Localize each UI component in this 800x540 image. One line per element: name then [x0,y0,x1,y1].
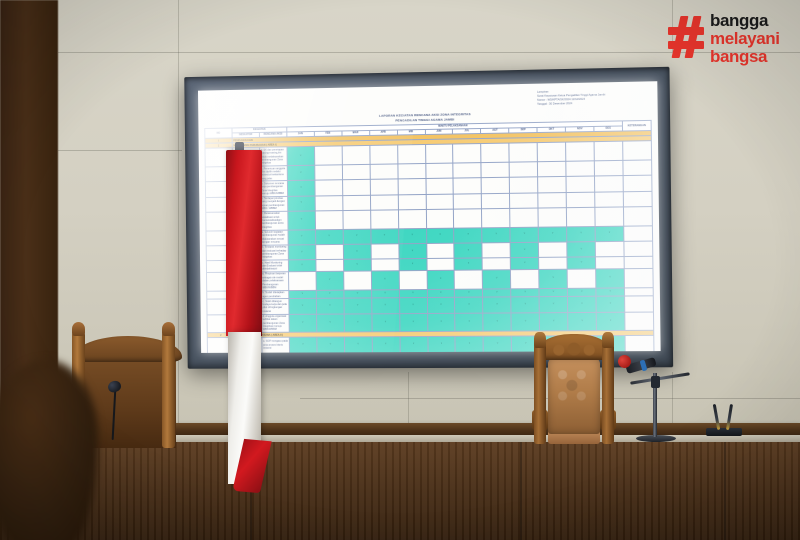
slide-header-block: Lampiran Surat Keputusan Ketua Pengadila… [537,89,643,107]
cell-month-empty [370,164,398,180]
cell-month-marked: v [455,313,483,332]
cell-month-empty [567,269,596,288]
mic-clip [651,376,660,388]
chair-finial-right [602,332,614,348]
cell-month-empty [399,271,427,290]
cell-month-empty [594,161,623,177]
cell-month-empty [397,145,425,164]
bench-panel-seam [724,442,726,540]
cell-month-empty [482,193,510,209]
cell-month-empty [369,145,397,164]
cell-month-marked: v [511,297,539,313]
cell-month-empty [426,258,454,270]
cell-month-marked: v [371,289,399,298]
cell-month-empty [426,209,454,228]
indonesian-flag [222,150,268,490]
cell-month-marked: v [455,297,483,313]
cell-month-marked: v [398,243,426,259]
cell-month-marked: v [511,258,539,270]
bangga-melayani-bangsa-logo: bangga melayani bangsa [668,8,790,66]
cell-month-marked: v [289,299,317,314]
cell-month-empty [342,146,370,165]
cell-month-empty [595,207,624,226]
cell-month-empty [425,144,453,163]
cell-month-marked: v [455,337,483,352]
cell-month-marked: v [399,289,427,298]
chair-tufted-backrest [548,358,600,434]
logo-line-1: bangga [710,12,780,30]
cell-month-marked: v [287,165,315,181]
mic-stem [112,388,117,440]
cell-month-marked: v [567,242,596,258]
hash-icon [668,16,704,58]
desk-pen-set [706,400,748,436]
cell-month-marked: v [483,297,511,313]
cell-month-marked: v [289,290,317,299]
cell-keterangan [624,269,653,288]
pen-left [713,404,720,430]
cell-month-marked: v [483,270,511,289]
cell-month-empty [539,242,568,258]
cell-month-empty [510,208,538,227]
cell-month-marked: v [538,226,567,242]
cell-month-marked: v [316,298,344,313]
cell-month-empty [370,210,398,229]
cell-month-marked: v [399,259,427,271]
cell-month-empty [454,193,482,209]
courtroom-scene: Lampiran Surat Keputusan Ketua Pengadila… [0,0,800,540]
cell-month-empty [453,163,481,179]
cell-month-empty [511,270,539,289]
cell-month-empty [316,259,344,271]
cell-month-marked: v [316,314,344,333]
cell-month-empty [370,195,398,211]
cell-month-marked: v [288,211,316,230]
cell-month-marked: v [287,181,315,197]
cell-month-empty [426,243,454,259]
cell-month-empty [566,161,595,177]
cell-month-empty [343,271,371,290]
mic-head [107,379,123,393]
cell-month-marked: v [539,297,568,313]
cell-month-empty [315,244,343,259]
cell-month-empty [566,192,595,208]
cell-month-empty [314,146,342,165]
wall-seam [58,150,182,151]
cell-keterangan [624,241,653,257]
cell-month-marked: v [539,269,568,288]
cell-month-marked: v [539,288,567,297]
cell-keterangan [623,141,652,160]
cell-month-empty [342,180,370,196]
cell-month-empty [398,179,426,195]
cell-month-marked: v [427,298,455,313]
cell-month-marked: v [372,313,400,332]
cell-keterangan [623,176,652,192]
cell-keterangan [625,296,654,312]
chair-crown-carving [536,334,612,360]
cell-keterangan [624,256,653,268]
cell-month-empty [566,176,595,192]
cell-month-empty [315,180,343,196]
cell-month-empty [425,163,453,179]
cell-month-marked: v [427,313,455,332]
cell-month-empty [482,242,510,258]
cell-month-marked: v [288,245,316,260]
cell-month-empty [567,207,596,226]
cell-month-marked: v [596,288,625,297]
cell-month-marked: v [596,269,625,288]
chair-finial-left [534,332,546,348]
cell-month-empty [509,162,537,178]
cell-month-empty [510,177,538,193]
pen-holder-base [706,428,742,436]
cell-keterangan [624,207,653,226]
cell-month-marked: v [343,259,371,271]
cell-month-marked: v [372,337,400,352]
cell-keterangan [623,160,652,176]
cell-month-empty [398,194,426,210]
cell-month-marked: v [483,289,511,298]
chair-finial-left [72,322,85,336]
cell-month-marked: v [316,271,344,290]
cell-month-marked: v [426,228,454,244]
cell-month-empty [454,209,482,228]
cell-month-empty [537,143,566,162]
activity-plan-table: NO KEGIATAN WAKTU PELAKSANAAN KETERANGAN… [204,120,655,353]
cell-month-empty [595,191,624,207]
chair-post-right [602,344,614,444]
mic-stand-boom [630,372,690,384]
cell-month-empty [482,258,510,270]
cell-month-empty [509,143,537,162]
cell-month-marked: v [399,313,427,332]
cell-month-empty [538,208,567,227]
cell-month-marked: v [287,196,315,212]
cell-month-empty [595,176,624,192]
cell-month-marked: v [455,289,483,298]
cell-month-marked: v [344,337,372,352]
cell-month-empty [538,177,567,193]
chair-post-right [162,332,175,448]
cell-month-marked: v [427,289,455,298]
gooseneck-microphone [104,374,126,440]
pen-right [726,404,733,430]
cell-month-empty [594,142,623,161]
cell-month-marked: v [288,229,316,244]
cell-month-marked: v [289,337,317,352]
cell-month-marked: v [568,288,597,297]
cell-month-marked: v [427,270,455,289]
chair-post-left [534,344,546,444]
cell-month-marked: v [315,229,343,244]
cell-month-marked: v [344,298,372,313]
bench-front-panel [0,442,800,540]
cell-month-marked: v [567,257,596,269]
cell-month-marked: v [371,298,399,313]
cell-month-empty [538,161,567,177]
cell-keterangan [625,312,654,331]
cell-month-marked: v [288,260,316,272]
cell-month-empty [538,192,567,208]
cell-month-marked: v [343,229,371,245]
flag-red-stripe [226,150,262,336]
cell-month-marked: v [595,226,624,242]
cell-month-marked: v [344,313,372,332]
cell-month-empty [596,257,625,269]
logo-wordmark: bangga melayani bangsa [710,12,780,66]
bench-panel-seam [520,442,522,540]
foreground-silhouette [0,360,98,540]
cell-month-empty [455,270,483,289]
cell-month-marked: v [510,242,538,258]
th-no: NO [205,128,232,139]
cell-keterangan [625,287,654,296]
cell-month-marked: v [344,290,372,299]
cell-month-marked: v [398,228,426,244]
cell-month-empty [397,164,425,180]
cell-month-empty [288,272,316,291]
cell-month-empty [342,195,370,211]
cell-month-empty [566,142,595,161]
cell-month-empty [315,195,343,211]
logo-line-3: bangsa [710,48,780,66]
cell-month-empty [453,144,481,163]
cell-month-marked: v [483,336,511,351]
cell-month-marked: v [511,288,539,297]
cell-month-empty [481,144,509,163]
cell-month-marked: v [596,296,625,312]
cell-month-empty [371,244,399,260]
cell-month-empty [370,179,398,195]
cell-month-empty [481,162,509,178]
cell-month-marked: v [483,313,511,332]
cell-month-empty [426,194,454,210]
table-body: IPENDAHULUAN1MANAJEMEN PERUBAHAN ( AREA … [205,131,654,353]
cell-month-empty [315,165,343,181]
cell-month-marked: v [399,298,427,313]
th-keterangan: KETERANGAN [622,120,651,131]
cell-month-empty [481,178,509,194]
cell-month-empty [539,257,567,269]
cell-month-marked: v [343,244,371,260]
judge-throne-chair [528,322,620,444]
cell-month-marked: v [510,227,538,243]
cell-month-empty [342,164,370,180]
cell-month-marked: v [289,314,317,333]
chair-finial-right [162,322,175,336]
cell-month-marked: v [370,228,398,244]
cell-month-marked: v [454,243,482,259]
cell-month-marked: v [400,337,428,352]
cell-month-marked: v [427,337,455,352]
cell-month-marked: v [317,337,345,352]
cell-keterangan [623,191,652,207]
cell-month-empty [343,210,371,229]
cell-month-empty [371,259,399,271]
cell-month-marked: v [568,297,597,313]
cell-month-empty [510,193,538,209]
header-line-4: Tanggal : 30 Desember 2024 [537,101,643,107]
microphone-on-stand [622,340,698,442]
cell-month-empty [425,178,453,194]
cell-month-marked: v [287,147,315,166]
cell-month-marked: v [454,258,482,270]
cell-month-empty [482,208,510,227]
cell-month-empty [398,209,426,228]
cell-month-marked: v [567,226,596,242]
logo-line-2: melayani [710,30,780,48]
cell-month-marked: v [482,227,510,243]
cell-keterangan [624,225,653,241]
cell-month-marked: v [371,271,399,290]
cell-month-empty [595,241,624,257]
cell-month-marked: v [316,290,344,299]
cell-month-marked: v [454,227,482,243]
cell-month-empty [315,211,343,230]
cell-month-empty [453,178,481,194]
